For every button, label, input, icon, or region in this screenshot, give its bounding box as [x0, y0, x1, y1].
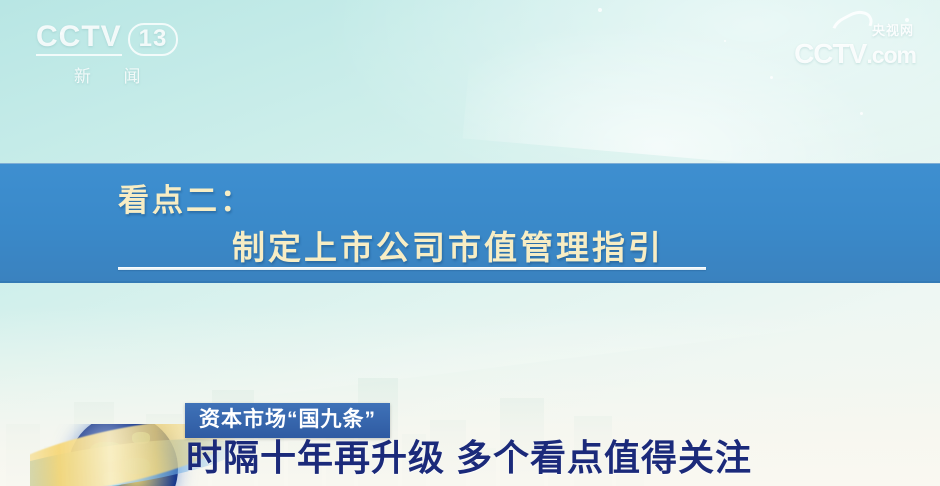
logo-top-row: CCTV 13 [36, 22, 178, 56]
cctv-dot-com-watermark: 央视网 CCTV.com [794, 16, 916, 68]
watermark-chinese-label: 央视网 [872, 20, 914, 39]
sparkle-dot [724, 40, 726, 42]
watermark-tld-text: .com [866, 42, 916, 68]
news-topic-tag: 资本市场“国九条” [185, 403, 390, 438]
main-topic-banner: 看点二： 制定上市公司市值管理指引 [0, 163, 940, 283]
channel-name-label: 新 闻 [36, 62, 178, 87]
watermark-cctv-text: CCTV [794, 38, 866, 69]
watermark-wordmark: CCTV.com [794, 40, 916, 68]
sparkle-dot [860, 112, 863, 115]
cctv-wordmark: CCTV [36, 22, 122, 56]
cctv13-channel-logo: CCTV 13 新 闻 [36, 22, 178, 87]
news-headline: 时隔十年再升级 多个看点值得关注 [186, 437, 752, 479]
sparkle-dot [770, 76, 773, 79]
broadcast-screenshot: CCTV 13 新 闻 央视网 CCTV.com 看点二： 制定上市公司市值管理… [0, 0, 940, 486]
channel-number-badge: 13 [128, 23, 179, 56]
banner-underline-rule [118, 267, 706, 270]
banner-subheading-line: 制定上市公司市值管理指引 [232, 221, 664, 269]
banner-heading-line: 看点二： [118, 175, 254, 220]
sparkle-dot [598, 8, 602, 12]
